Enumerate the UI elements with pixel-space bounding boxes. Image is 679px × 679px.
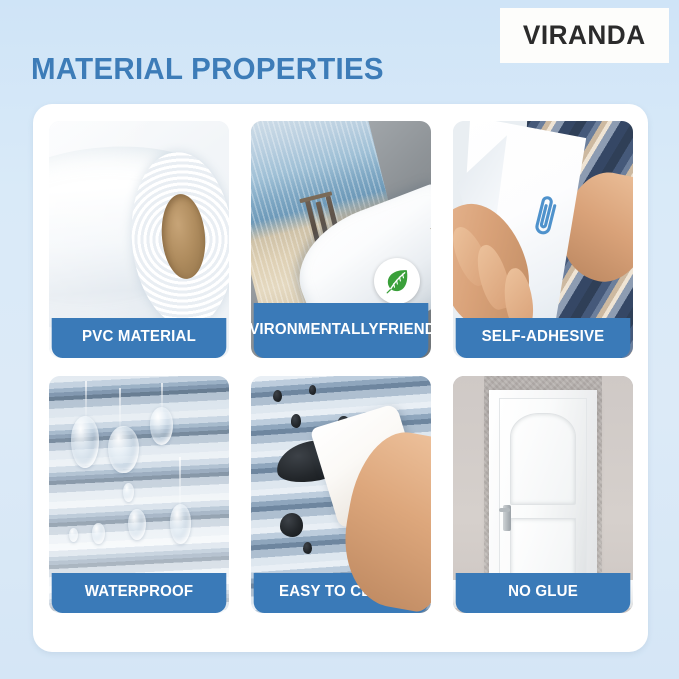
stain-spot — [303, 542, 312, 554]
feature-card-waterproof[interactable]: WATERPROOF — [49, 376, 229, 613]
door-slab — [499, 398, 588, 592]
door-panel-top — [510, 413, 576, 505]
water-droplet — [170, 504, 192, 544]
features-panel: PVC MATERIAL — [33, 104, 648, 652]
water-trail — [179, 457, 181, 509]
curl-tip-corner — [426, 210, 431, 237]
feature-label-waterproof: WATERPROOF — [52, 573, 227, 613]
stain-spot — [280, 513, 303, 537]
door-frame — [489, 390, 597, 594]
feature-label-pvc-material: PVC MATERIAL — [52, 318, 227, 358]
water-droplet — [123, 483, 134, 502]
water-trail — [85, 381, 87, 419]
water-droplet — [69, 528, 78, 542]
feature-label-self-adhesive: SELF-ADHESIVE — [456, 318, 631, 358]
feature-card-no-glue[interactable]: NO GLUE — [453, 376, 633, 613]
stain-spot — [273, 390, 282, 402]
label-line-2: FRIENDLY — [379, 322, 431, 339]
features-grid: PVC MATERIAL — [49, 121, 632, 613]
water-droplet — [128, 509, 146, 540]
page-title: MATERIAL PROPERTIES — [31, 51, 384, 87]
leaf-badge — [374, 258, 420, 304]
water-droplet — [71, 416, 100, 468]
door-handle — [503, 505, 511, 531]
water-droplet — [108, 426, 139, 473]
feature-card-environmentally-friendly[interactable]: ENVIRONMENTALLY FRIENDLY — [251, 121, 431, 358]
water-trail — [119, 388, 121, 428]
water-droplet — [92, 523, 105, 544]
feature-card-self-adhesive[interactable]: SELF-ADHESIVE — [453, 121, 633, 358]
brand-logo-box: VIRANDA — [500, 8, 669, 63]
brand-name: VIRANDA — [523, 20, 646, 51]
feature-label-environmentally-friendly: ENVIRONMENTALLY FRIENDLY — [254, 303, 429, 358]
feature-card-easy-to-clean[interactable]: EASY TO CLEAN — [251, 376, 431, 613]
label-line-1: ENVIRONMENTALLY — [251, 322, 379, 339]
water-droplet — [150, 407, 173, 445]
stain-spot — [291, 414, 302, 428]
feature-card-pvc-material[interactable]: PVC MATERIAL — [49, 121, 229, 358]
leaf-icon — [382, 266, 412, 296]
stain-spot — [309, 385, 316, 394]
feature-label-no-glue: NO GLUE — [456, 573, 631, 613]
